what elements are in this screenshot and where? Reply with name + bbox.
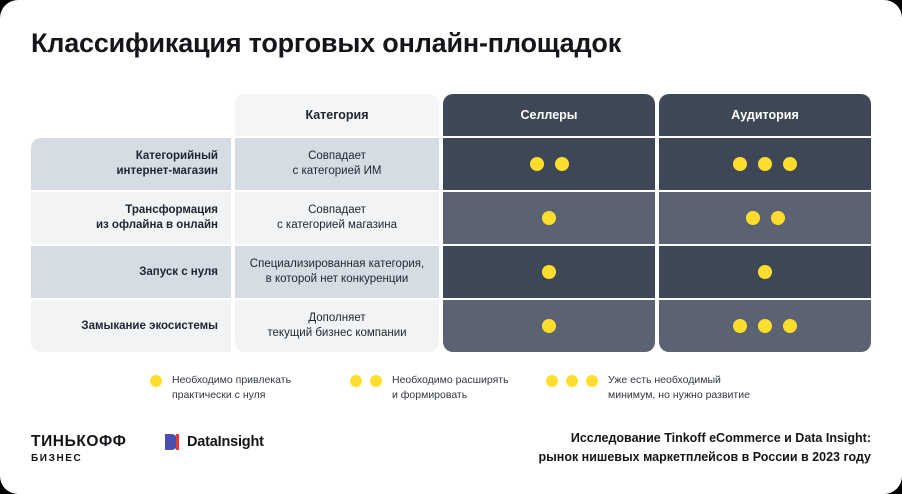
row-category: Дополняет текущий бизнес компании (235, 300, 439, 352)
legend-label: Необходимо привлекать практически с нуля (172, 373, 291, 402)
dot-group (530, 157, 569, 171)
table-row: Замыкание экосистемы Дополняет текущий б… (31, 300, 871, 352)
table-row: Запуск с нуля Специализированная категор… (31, 246, 871, 298)
page-title: Классификация торговых онлайн-площадок (31, 28, 621, 59)
row-label: Категорийный интернет-магазин (31, 138, 231, 190)
source-note: Исследование Tinkoff eCommerce и Data In… (538, 429, 871, 467)
table-row: Трансформация из офлайна в онлайн Совпад… (31, 192, 871, 244)
legend-dot-group (350, 373, 382, 387)
tinkoff-business-logo: ТИНЬКОФФ БИЗНЕС (31, 433, 127, 464)
legend-dot (370, 375, 382, 387)
dot-group (733, 319, 797, 333)
legend-dot (350, 375, 362, 387)
header-audience: Аудитория (659, 94, 871, 136)
rating-dot (530, 157, 544, 171)
row-category: Специализированная категория, в которой … (235, 246, 439, 298)
dot-group (733, 157, 797, 171)
data-insight-mark-icon (165, 434, 180, 450)
row-sellers-rating (443, 192, 655, 244)
rating-dot (733, 319, 747, 333)
row-label: Трансформация из офлайна в онлайн (31, 192, 231, 244)
table-row: Категорийный интернет-магазин Совпадает … (31, 138, 871, 190)
tinkoff-wordmark: ТИНЬКОФФ (31, 433, 127, 451)
rating-dot (746, 211, 760, 225)
legend-item: Необходимо расширять и формировать (350, 373, 546, 402)
legend-dot (586, 375, 598, 387)
row-category: Совпадает с категорией ИМ (235, 138, 439, 190)
legend: Необходимо привлекать практически с нуля… (150, 373, 750, 402)
row-audience-rating (659, 300, 871, 352)
dot-group (758, 265, 772, 279)
rating-dot (758, 319, 772, 333)
classification-table: Категория Селлеры Аудитория Категорийный… (31, 94, 871, 352)
legend-dot-group (150, 373, 162, 387)
rating-dot (733, 157, 747, 171)
row-sellers-rating (443, 246, 655, 298)
rating-dot (758, 157, 772, 171)
legend-dot-group (546, 373, 598, 387)
legend-dot (546, 375, 558, 387)
header-empty-corner (31, 94, 231, 136)
dot-group (746, 211, 785, 225)
infographic-canvas: Классификация торговых онлайн-площадок К… (0, 0, 902, 494)
legend-dot (150, 375, 162, 387)
row-label: Запуск с нуля (31, 246, 231, 298)
row-sellers-rating (443, 138, 655, 190)
dot-group (542, 211, 556, 225)
header-sellers: Селлеры (443, 94, 655, 136)
row-sellers-rating (443, 300, 655, 352)
rating-dot (758, 265, 772, 279)
legend-label: Необходимо расширять и формировать (392, 373, 509, 402)
row-audience-rating (659, 192, 871, 244)
data-insight-wordmark: DataInsight (187, 434, 264, 450)
legend-label: Уже есть необходимый минимум, но нужно р… (608, 373, 750, 402)
table-header-row: Категория Селлеры Аудитория (31, 94, 871, 136)
rating-dot (542, 319, 556, 333)
row-audience-rating (659, 138, 871, 190)
rating-dot (783, 319, 797, 333)
dot-group (542, 319, 556, 333)
row-label: Замыкание экосистемы (31, 300, 231, 352)
rating-dot (771, 211, 785, 225)
data-insight-logo: DataInsight (165, 434, 264, 450)
rating-dot (542, 265, 556, 279)
row-category: Совпадает с категорией магазина (235, 192, 439, 244)
header-category: Категория (235, 94, 439, 136)
dot-group (542, 265, 556, 279)
rating-dot (783, 157, 797, 171)
rating-dot (542, 211, 556, 225)
legend-item: Уже есть необходимый минимум, но нужно р… (546, 373, 750, 402)
legend-item: Необходимо привлекать практически с нуля (150, 373, 350, 402)
row-audience-rating (659, 246, 871, 298)
legend-dot (566, 375, 578, 387)
rating-dot (555, 157, 569, 171)
tinkoff-business-subline: БИЗНЕС (31, 453, 127, 464)
